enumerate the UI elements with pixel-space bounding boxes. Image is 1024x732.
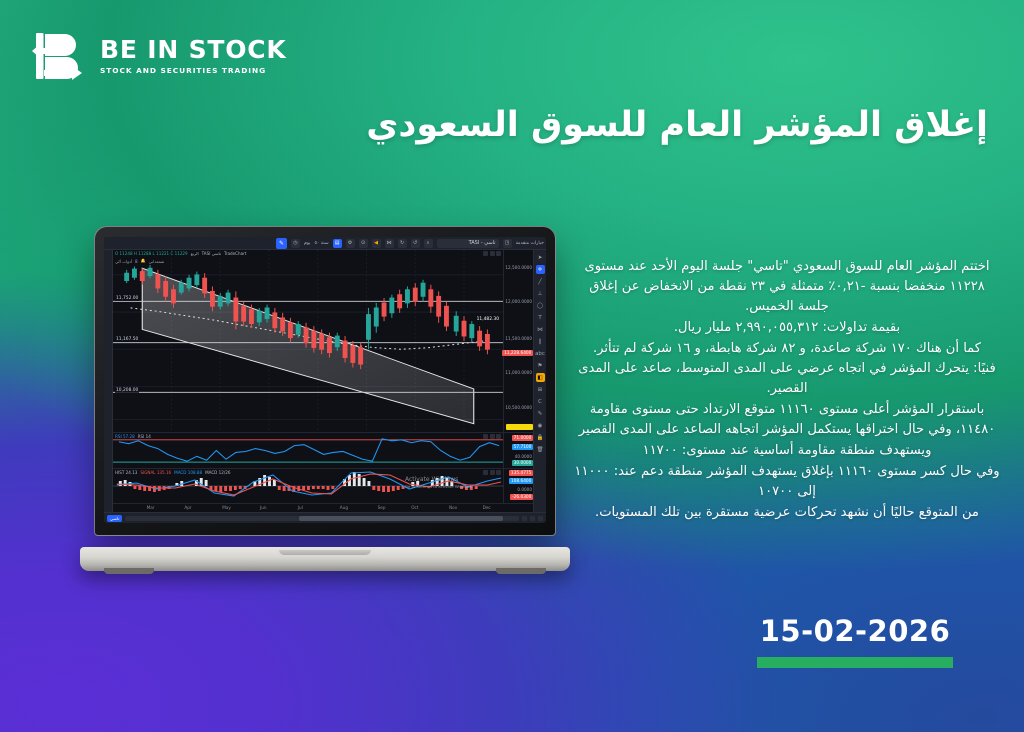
rsi-svg — [113, 433, 503, 468]
ruler-icon[interactable]: ⊥ — [536, 289, 545, 298]
body-paragraph: باستقرار المؤشر أعلى مستوى ١١١٦٠ متوقع ا… — [572, 400, 1002, 440]
search-icon[interactable]: ⌕ — [424, 239, 433, 248]
legend-ohlc: O 11248 H 11288 L 11221 C 11229 — [115, 251, 188, 256]
chart-statusbar: تاسي — [104, 512, 546, 523]
pane-control-icon[interactable] — [490, 434, 495, 439]
rsi-value: RSI 57.28 — [115, 434, 135, 439]
pane-controls[interactable] — [483, 251, 501, 256]
magnet2-icon[interactable]: C — [536, 397, 545, 406]
price-tick: 11,000.0000 — [505, 370, 532, 375]
body-paragraph: بقيمة تداولات: ٢,٩٩٠,٠٥٥,٣١٢ مليار ريال. — [572, 318, 1002, 338]
text-icon[interactable]: T — [536, 313, 545, 322]
body-paragraph: ويستهدف منطقة مقاومة أساسية عند مستوى: ١… — [572, 441, 1002, 461]
rsi-title: RSI 14 — [138, 434, 151, 439]
clock-icon[interactable]: ◷ — [291, 239, 300, 248]
chart-workspace: TradeChart تاسي TASI الربع O 11248 H 112… — [104, 250, 546, 512]
abc-icon[interactable]: abc — [536, 349, 545, 358]
laptop-foot-right — [496, 568, 546, 574]
ellipse-icon[interactable]: ◯ — [536, 301, 545, 310]
price-candles-svg — [113, 250, 503, 432]
range-label[interactable]: سنة ٥٠ — [314, 241, 328, 246]
pane-control-icon[interactable] — [490, 251, 495, 256]
pattern-icon[interactable]: ⋈ — [536, 325, 545, 334]
laptop-screen: ✎ ◷ يوم سنة ٥٠ ▤ ⚙ ⊙ ◀ ⋈ ↻ ↺ ⌕ تاسي - TA… — [104, 237, 546, 523]
date-block: 15-02-2026 — [740, 614, 970, 668]
be-in-stock-logo-icon — [30, 28, 88, 84]
body-paragraph: فنيًا: يتحرك المؤشر في اتجاه عرضي على ال… — [572, 359, 1002, 399]
settings-alt-icon[interactable]: ⊙ — [359, 239, 368, 248]
magnet-icon[interactable]: ◧ — [536, 373, 545, 382]
macd-axis[interactable]: 135.4775 108.6400 0.0000 -26.0300 — [503, 469, 533, 503]
time-tick: Nov — [449, 505, 457, 510]
rsi-axis[interactable]: 71.0000 57.7100 40.0000 30.0000 — [503, 433, 533, 468]
time-tick: Mar — [147, 505, 155, 510]
pane-control-icon[interactable] — [496, 251, 501, 256]
rsi-tick: 40.0000 — [515, 454, 532, 459]
candles-style-label: شمعداني — [149, 259, 165, 264]
zoom-in-icon[interactable] — [538, 516, 543, 521]
brand-tagline: STOCK AND SECURITIES TRADING — [100, 67, 287, 74]
date-underline-rule — [757, 657, 953, 668]
timeline-scrollbar[interactable] — [125, 516, 519, 521]
level-label: 11,752.00 — [115, 296, 139, 301]
pane-control-icon[interactable] — [483, 470, 488, 475]
level-label: 11,167.50 — [115, 337, 139, 342]
body-paragraph: من المتوقع حاليًا أن نشهد تحركات عرضية م… — [572, 503, 1002, 523]
publish-date: 15-02-2026 — [740, 614, 970, 648]
last-price-tag: 11,228.6400 — [502, 350, 533, 356]
legend-source: TradeChart — [224, 251, 246, 256]
pane-control-icon[interactable] — [496, 434, 501, 439]
chart-panes: TradeChart تاسي TASI الربع O 11248 H 112… — [113, 250, 533, 512]
rsi-tag: 57.7100 — [512, 444, 533, 450]
rsi-pane-controls[interactable] — [483, 434, 501, 439]
macd-tag: -26.0300 — [510, 494, 533, 500]
statusbar-chart-button[interactable]: تاسي — [107, 515, 122, 522]
body-paragraph: وفي حال كسر مستوى ١١١٦٠ بإغلاق يستهدف ال… — [572, 462, 1002, 502]
macd-pane[interactable]: MACD 12/26 MACD 108.88 SIGNAL 135.16 HIS… — [113, 469, 533, 503]
trendline-icon[interactable]: ╱ — [536, 277, 545, 286]
macd-tick: 0.0000 — [517, 487, 532, 492]
redo-icon[interactable]: ↻ — [398, 239, 407, 248]
macd-hist-value: HIST 24.13 — [115, 470, 137, 475]
reset-icon[interactable] — [522, 516, 527, 521]
macd-tag: 135.4775 — [509, 470, 533, 476]
layout-label[interactable]: خيارات متقدمة — [516, 241, 544, 246]
zoom-out-icon[interactable] — [530, 516, 535, 521]
price-tick: 12,500.0000 — [505, 265, 532, 270]
laptop-base — [80, 547, 570, 571]
alert-count: 8 — [135, 259, 138, 264]
right-toolbar: ➤ ✛ ╱ ⊥ ◯ T ⋈ ∥ abc ⚑ ◧ ⊞ C ✎ ◉ 🔒 🗑 — [533, 250, 546, 512]
pane-control-icon[interactable] — [490, 470, 495, 475]
eye-icon[interactable]: ◉ — [536, 421, 545, 430]
chart-legend-secondary: شمعداني 🔔 8 أدوات ألي — [115, 258, 164, 264]
level-label: 11,482.30 — [476, 317, 500, 322]
price-tick: 11,500.0000 — [505, 336, 532, 341]
bell-icon[interactable]: 🔔 — [141, 258, 146, 264]
pane-control-icon[interactable] — [483, 434, 488, 439]
pane-control-icon[interactable] — [496, 470, 501, 475]
rsi-tag: 30.0000 — [512, 460, 533, 466]
left-rail — [104, 250, 113, 512]
tools-label: أدوات ألي — [115, 259, 132, 264]
interval-label[interactable]: يوم — [304, 241, 311, 246]
legend-timeframe: الربع — [191, 251, 199, 256]
compare-icon[interactable]: ⋈ — [385, 239, 394, 248]
article-body: اختتم المؤشر العام للسوق السعودي "تاسي" … — [572, 257, 1002, 524]
alert-icon[interactable]: ◀ — [372, 239, 381, 248]
gear-icon[interactable]: ⚙ — [346, 239, 355, 248]
brand-name: BE IN STOCK — [100, 37, 287, 62]
macd-legend: MACD 12/26 MACD 108.88 SIGNAL 135.16 HIS… — [115, 470, 230, 475]
crosshair-icon[interactable]: ✛ — [536, 265, 545, 274]
measure-icon[interactable]: ⊞ — [536, 385, 545, 394]
indicators-icon[interactable]: ▤ — [333, 239, 342, 248]
body-paragraph: كما أن هناك ١٧٠ شركة صاعدة، و ٨٢ شركة ها… — [572, 339, 1002, 359]
laptop-base-notch — [279, 550, 371, 555]
macd-line-value: MACD 108.88 — [174, 470, 202, 475]
lock-icon[interactable]: 🔒 — [536, 433, 545, 442]
pane-control-icon[interactable] — [483, 251, 488, 256]
time-tick: Aug — [340, 505, 348, 510]
brand-logo: BE IN STOCK STOCK AND SECURITIES TRADING — [30, 28, 287, 84]
time-tick: Oct — [411, 505, 418, 510]
fib-icon[interactable]: ∥ — [536, 337, 545, 346]
page-title: إغلاق المؤشر العام للسوق السعودي — [288, 104, 988, 148]
laptop-foot-left — [104, 568, 154, 574]
price-pane[interactable]: TradeChart تاسي TASI الربع O 11248 H 112… — [113, 250, 533, 433]
pen-icon[interactable]: ✎ — [276, 238, 287, 249]
time-tick: Jul — [298, 505, 303, 510]
brush-icon[interactable]: ✎ — [536, 409, 545, 418]
price-tick: 10,500.0000 — [505, 405, 532, 410]
price-axis-highlight — [506, 424, 533, 430]
body-paragraph: اختتم المؤشر العام للسوق السعودي "تاسي" … — [572, 257, 1002, 317]
macd-title: MACD 12/26 — [205, 470, 230, 475]
chart-toolbar: ✎ ◷ يوم سنة ٥٠ ▤ ⚙ ⊙ ◀ ⋈ ↻ ↺ ⌕ تاسي - TA… — [104, 237, 546, 250]
flag-icon[interactable]: ⚑ — [536, 361, 545, 370]
laptop-lid: ✎ ◷ يوم سنة ٥٠ ▤ ⚙ ⊙ ◀ ⋈ ↻ ↺ ⌕ تاسي - TA… — [94, 226, 556, 536]
brand-logo-text: BE IN STOCK STOCK AND SECURITIES TRADING — [100, 37, 287, 74]
symbol-search-input[interactable]: تاسي - TASI — [437, 239, 499, 248]
chart-legend: TradeChart تاسي TASI الربع O 11248 H 112… — [115, 251, 246, 256]
macd-signal-value: SIGNAL 135.16 — [140, 470, 171, 475]
macd-tag: 108.6400 — [509, 478, 533, 484]
time-tick: Dec — [483, 505, 491, 510]
rsi-legend: RSI 14 RSI 57.28 — [115, 434, 151, 439]
time-tick: Sep — [378, 505, 386, 510]
time-axis[interactable]: Mar Apr May Jun Jul Aug Sep Oct Nov Dec — [113, 503, 533, 512]
price-axis[interactable]: 12,500.0000 12,000.0000 11,500.0000 11,0… — [503, 250, 533, 432]
undo-icon[interactable]: ↺ — [411, 239, 420, 248]
macd-pane-controls[interactable] — [483, 470, 501, 475]
trash-icon[interactable]: 🗑 — [536, 445, 545, 454]
time-tick: Jun — [260, 505, 267, 510]
level-label: 10,208.00 — [115, 388, 139, 393]
layout-icon[interactable]: ◳ — [503, 239, 512, 248]
price-tick: 12,000.0000 — [505, 299, 532, 304]
time-tick: Apr — [184, 505, 191, 510]
laptop-mockup: ✎ ◷ يوم سنة ٥٠ ▤ ⚙ ⊙ ◀ ⋈ ↻ ↺ ⌕ تاسي - TA… — [80, 226, 570, 571]
cursor-icon[interactable]: ➤ — [536, 253, 545, 262]
time-tick: May — [222, 505, 231, 510]
timeline-scrollbar-thumb[interactable] — [299, 516, 504, 521]
rsi-pane[interactable]: RSI 14 RSI 57.28 — [113, 433, 533, 469]
legend-symbol: تاسي TASI — [202, 251, 221, 256]
rsi-tag: 71.0000 — [512, 435, 533, 441]
